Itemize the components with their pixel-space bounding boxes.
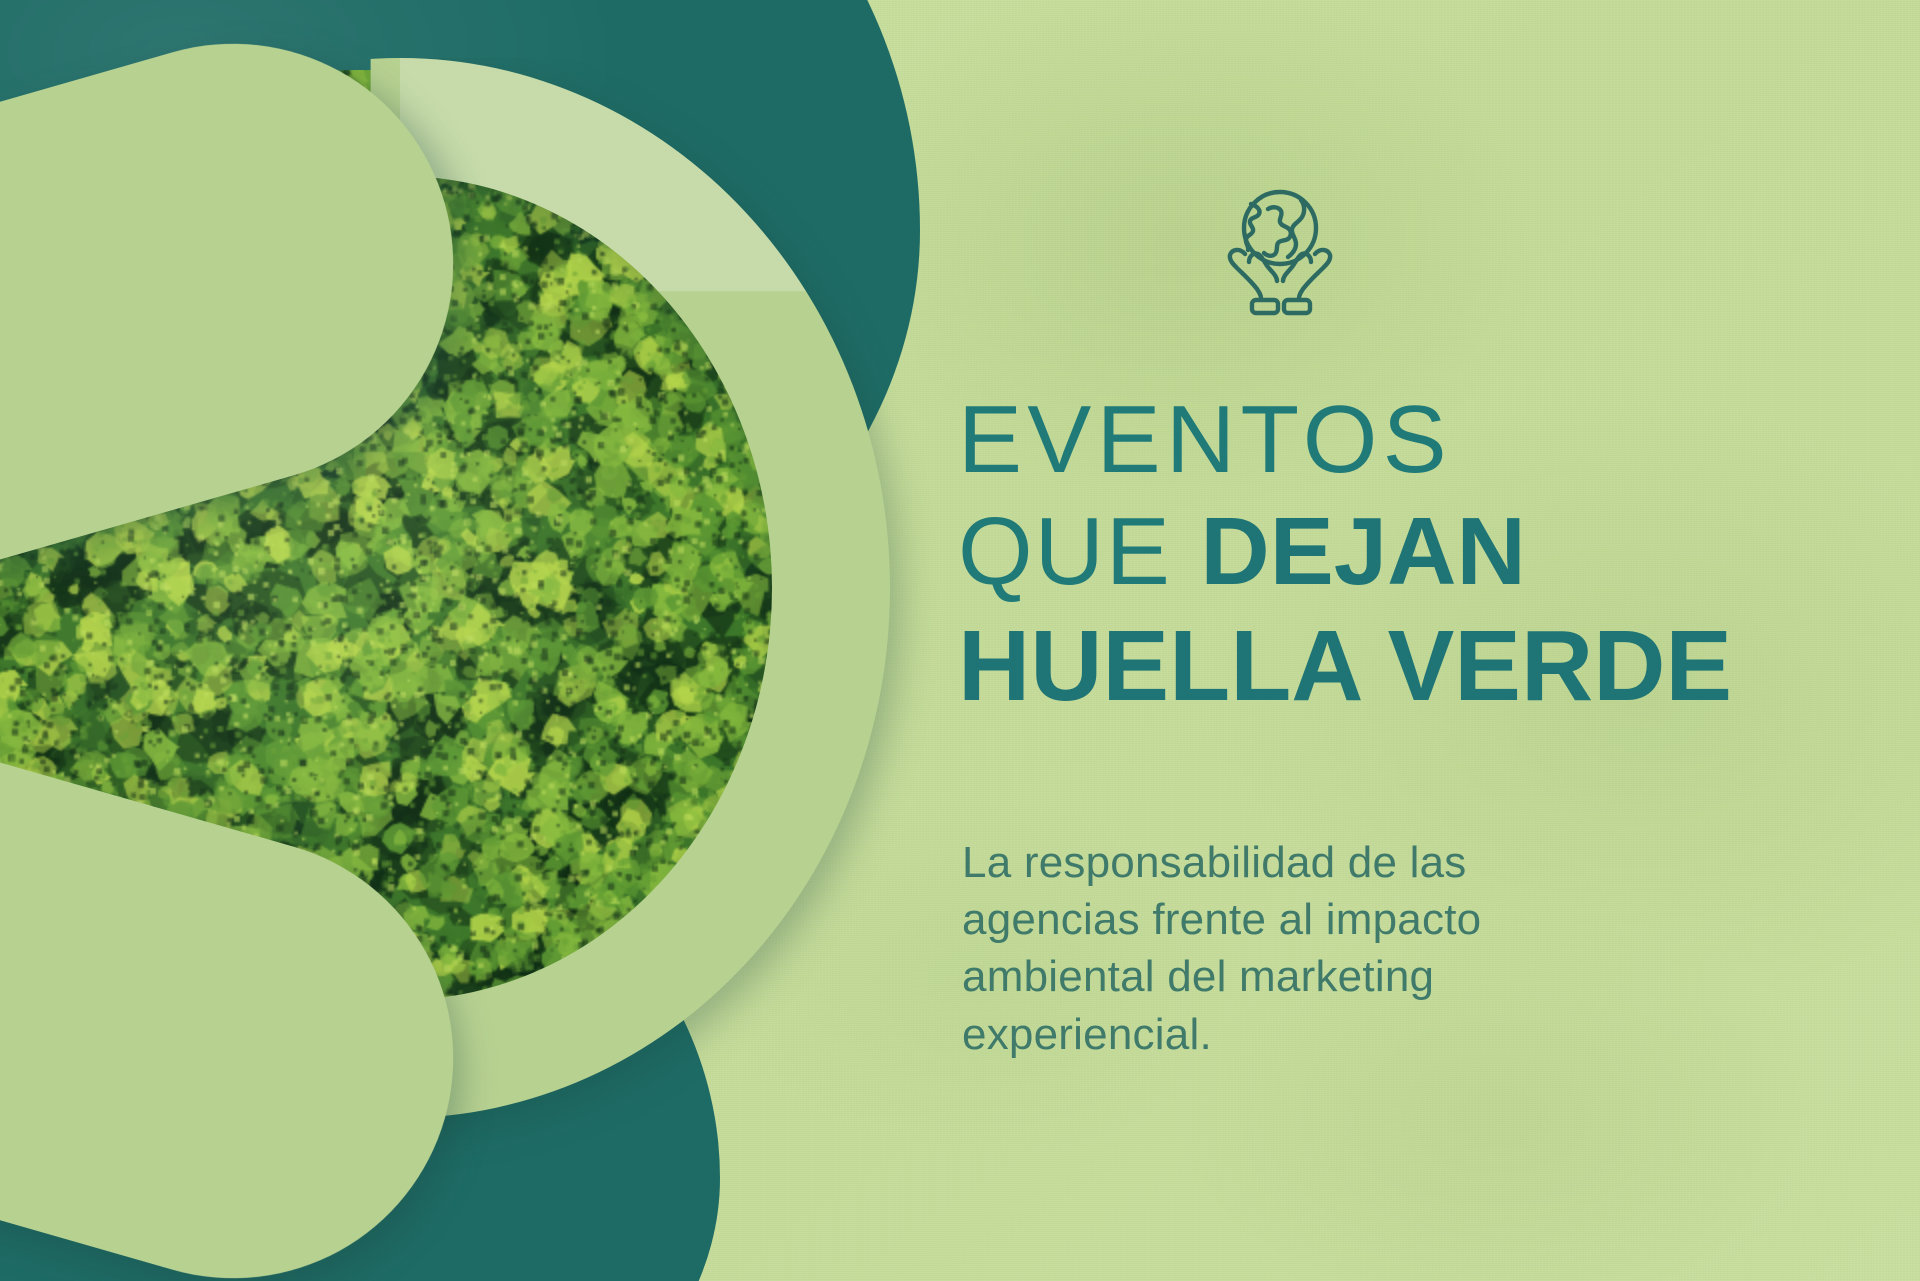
headline-line-3: HUELLA VERDE [958, 616, 1918, 716]
headline-line-1: EVENTOS [958, 392, 1918, 488]
headline-line-2-bold: DEJAN [1200, 498, 1525, 605]
content-column: EVENTOS QUE DEJAN HUELLA VERDE La respon… [940, 0, 1920, 1281]
headline-line-2-light: QUE [958, 498, 1200, 605]
globe-in-hands-icon [1205, 178, 1355, 328]
subtitle-paragraph: La responsabilidad de las agencias frent… [962, 834, 1602, 1063]
headline-line-2: QUE DEJAN [958, 504, 1918, 600]
page-title: EVENTOS QUE DEJAN HUELLA VERDE [958, 392, 1918, 716]
poster-canvas: EVENTOS QUE DEJAN HUELLA VERDE La respon… [0, 0, 1920, 1281]
